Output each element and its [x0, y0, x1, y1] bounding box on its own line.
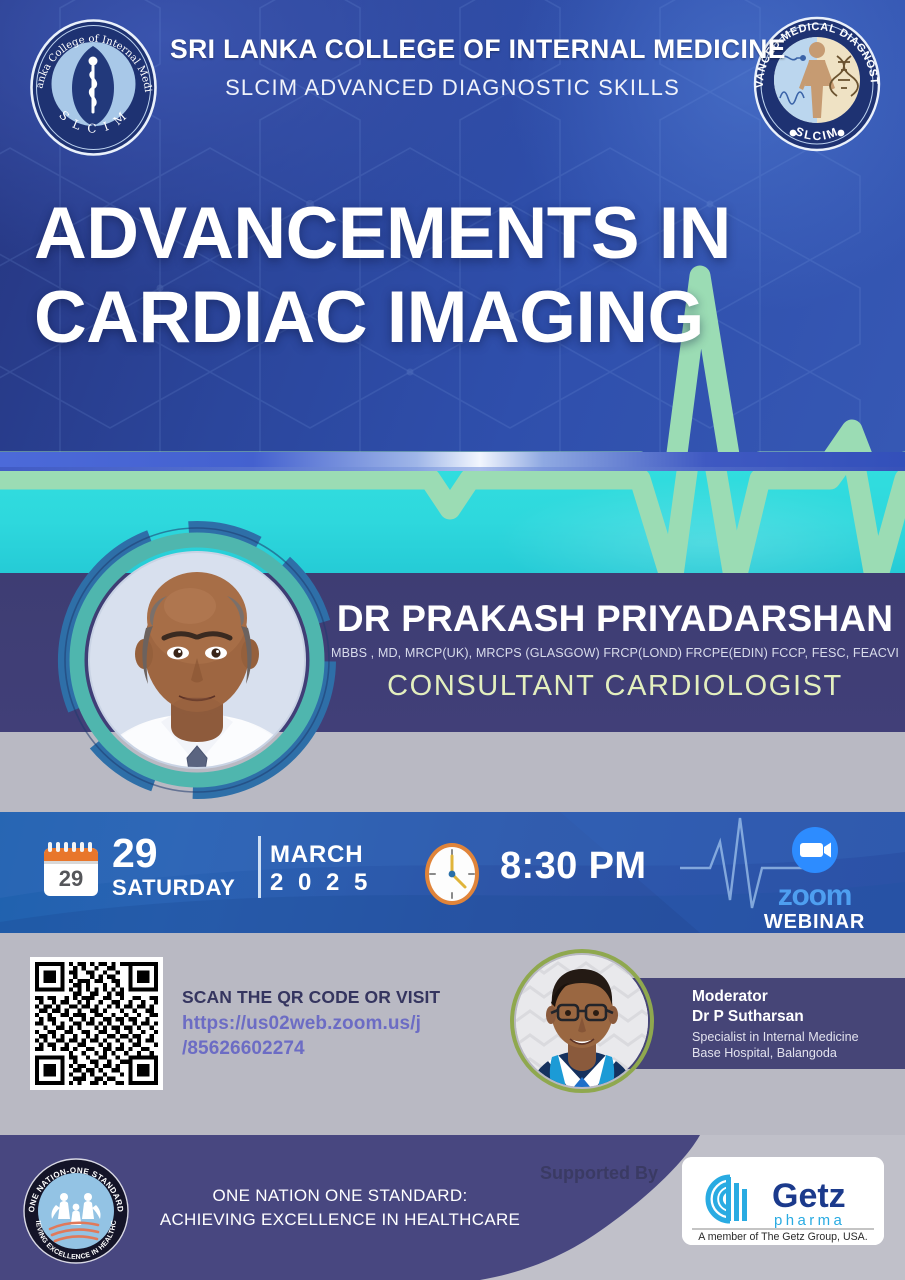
qr-code[interactable]: [30, 957, 163, 1090]
calendar-day-number: 29: [59, 866, 83, 891]
avatar: [47, 508, 347, 808]
zoom-wordmark: zoom: [752, 881, 877, 911]
campaign-line-1: ONE NATION ONE STANDARD:: [130, 1186, 550, 1206]
date-divider: [258, 836, 261, 898]
one-nation-one-standard-logo: ONE NATION-ONE STANDARD ACHIEVING EXCELL…: [22, 1157, 130, 1265]
header-titles: SRI LANKA COLLEGE OF INTERNAL MEDICINE S…: [170, 34, 735, 101]
organization-name: SRI LANKA COLLEGE OF INTERNAL MEDICINE: [170, 34, 735, 64]
title-line-2: CARDIAC IMAGING: [34, 282, 754, 354]
supported-by-label: Supported By: [540, 1163, 658, 1184]
calendar-icon: 29: [40, 838, 102, 900]
event-year: 2 0 2 5: [270, 869, 371, 897]
moderator-title: Specialist in Internal Medicine: [692, 1030, 859, 1044]
page-title: ADVANCEMENTS IN CARDIAC IMAGING: [34, 198, 754, 353]
getz-pharma-logo-image: Getz pharma A member of The Getz Group, …: [682, 1157, 884, 1245]
getz-wordmark: Getz: [772, 1177, 846, 1215]
event-day-number: 29: [112, 833, 158, 874]
webinar-label: WEBINAR: [752, 912, 877, 932]
getz-tagline: A member of The Getz Group, USA.: [698, 1231, 867, 1243]
hero-section: Sri Lanka College of Internal Medicine S…: [0, 0, 905, 462]
campaign-line-2: ACHIEVING EXCELLENCE IN HEALTHCARE: [130, 1210, 550, 1230]
event-time: 8:30 PM: [500, 845, 646, 888]
title-line-1: ADVANCEMENTS IN: [34, 198, 754, 270]
event-month: MARCH: [270, 841, 363, 869]
event-day-name: SATURDAY: [112, 875, 235, 901]
speaker-credentials: MBBS , MD, MRCP(UK), MRCPS (GLASGOW) FRC…: [330, 646, 900, 660]
pharma-wordmark: pharma: [774, 1212, 845, 1229]
registration-url-line2[interactable]: /85626602274: [182, 1038, 305, 1060]
clock-icon: [418, 840, 486, 908]
getz-pharma-logo: Getz pharma A member of The Getz Group, …: [682, 1157, 884, 1245]
poster-header: Sri Lanka College of Internal Medicine S…: [0, 0, 905, 160]
moderator-institution: Base Hospital, Balangoda: [692, 1046, 837, 1060]
speaker-role: CONSULTANT CARDIOLOGIST: [330, 670, 900, 703]
moderator-name: Dr P Sutharsan: [692, 1008, 804, 1026]
qr-code-image: [35, 962, 158, 1085]
zoom-webinar-logo: zoom WEBINAR: [752, 826, 877, 926]
webinar-poster: Sri Lanka College of Internal Medicine S…: [0, 0, 905, 1280]
program-name: SLCIM ADVANCED DIAGNOSTIC SKILLS: [170, 75, 735, 101]
gradient-divider: [0, 452, 905, 471]
speaker-name: DR PRAKASH PRIYADARSHAN: [330, 598, 900, 640]
video-camera-icon: [791, 826, 839, 874]
slcim-crest-logo: Sri Lanka College of Internal Medicine S…: [22, 16, 165, 159]
moderator-label: Moderator: [692, 988, 768, 1006]
scan-instruction: SCAN THE QR CODE OR VISIT: [182, 987, 440, 1008]
registration-url-line1[interactable]: https://us02web.zoom.us/j: [182, 1013, 421, 1035]
moderator-avatar: [508, 947, 656, 1095]
